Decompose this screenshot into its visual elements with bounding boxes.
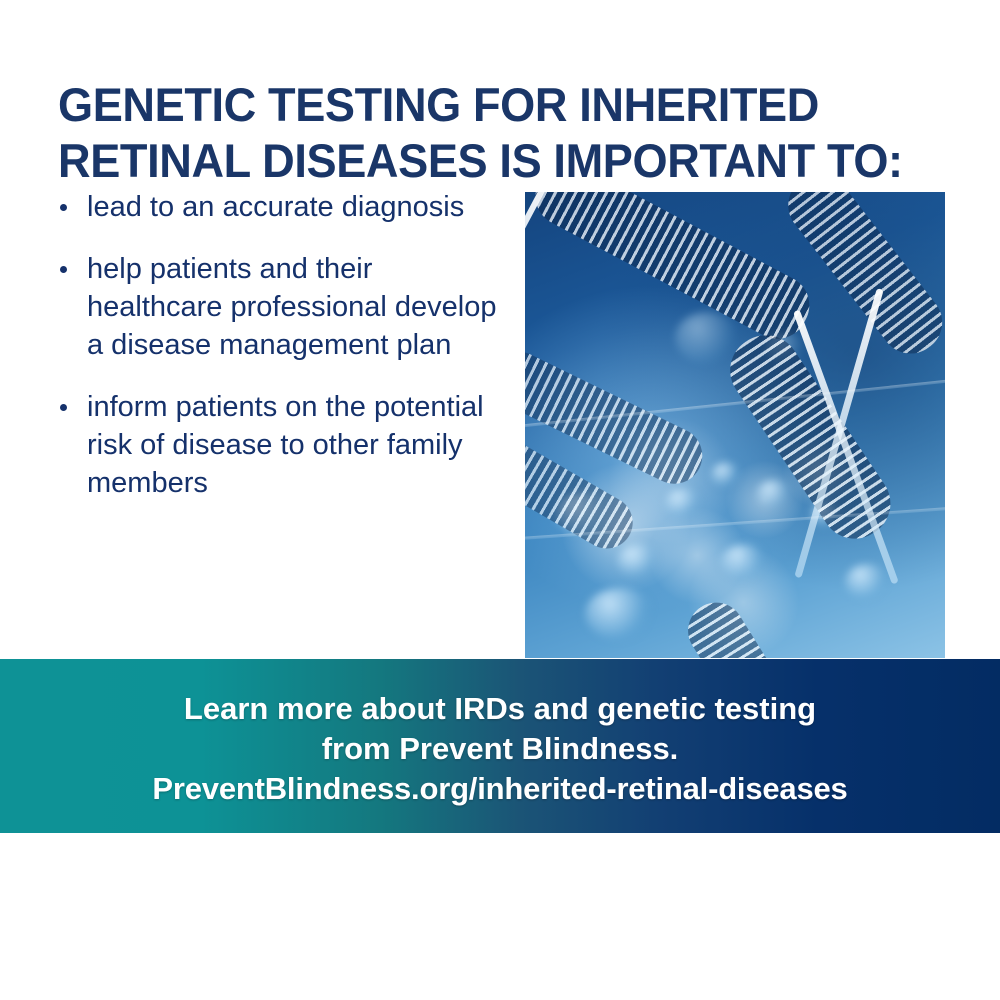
list-item-label: lead to an accurate diagnosis xyxy=(87,191,464,223)
infographic-canvas: GENETIC TESTING FOR INHERITED RETINAL DI… xyxy=(0,0,1000,1000)
bokeh-blob xyxy=(845,564,889,600)
bokeh-blob xyxy=(675,312,739,364)
page-title-line-2: RETINAL DISEASES IS IMPORTANT TO: xyxy=(58,133,922,189)
cta-url-link[interactable]: PreventBlindness.org/inherited-retinal-d… xyxy=(0,769,1000,809)
cta-band: Learn more about IRDs and genetic testin… xyxy=(0,659,1000,833)
bokeh-blob xyxy=(665,488,701,518)
bokeh-blob xyxy=(617,544,659,578)
dna-helix-image xyxy=(525,192,945,658)
logo-row: Prevent Blindness Johnson &Johnson Spark… xyxy=(0,833,1000,1000)
list-item: inform patients on the potential risk of… xyxy=(52,388,507,502)
cta-text: Learn more about IRDs and genetic testin… xyxy=(0,689,1000,809)
bokeh-blob xyxy=(721,544,767,580)
bullet-dot-icon xyxy=(60,404,67,411)
list-item: lead to an accurate diagnosis xyxy=(52,188,507,226)
bokeh-blob xyxy=(585,588,655,640)
list-item-label: help patients and their healthcare profe… xyxy=(87,253,497,361)
list-item: help patients and their healthcare profe… xyxy=(52,250,507,364)
page-title-line-1: GENETIC TESTING FOR INHERITED xyxy=(58,77,922,133)
bullet-dot-icon xyxy=(60,204,67,211)
list-item-label: inform patients on the potential risk of… xyxy=(87,391,484,499)
bokeh-blob xyxy=(711,462,741,488)
benefits-list: lead to an accurate diagnosis help patie… xyxy=(52,188,507,502)
cta-line-2: from Prevent Blindness. xyxy=(0,729,1000,769)
page-title: GENETIC TESTING FOR INHERITED RETINAL DI… xyxy=(58,77,922,189)
bokeh-blob xyxy=(757,480,791,508)
cta-line-1: Learn more about IRDs and genetic testin… xyxy=(0,689,1000,729)
bullet-dot-icon xyxy=(60,266,67,273)
